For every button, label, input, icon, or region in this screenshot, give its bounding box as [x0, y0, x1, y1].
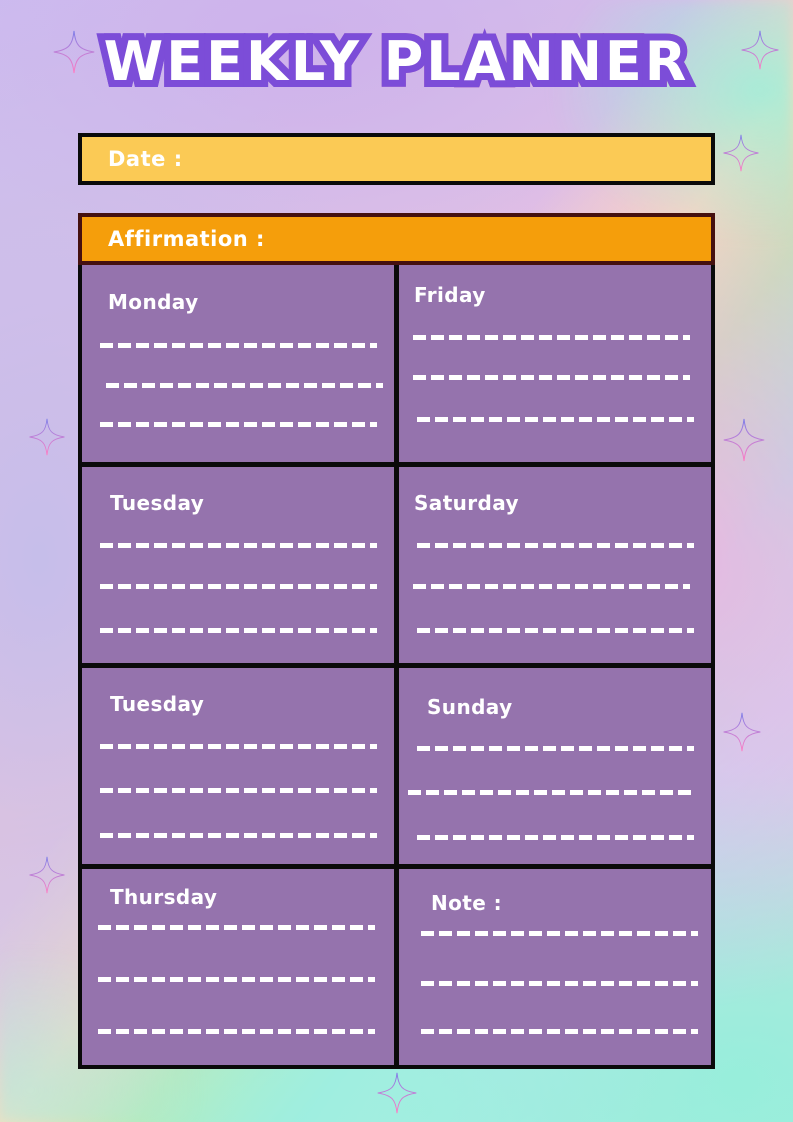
writing-line[interactable]: [100, 788, 377, 793]
planner-cell-monday[interactable]: Monday: [82, 265, 394, 462]
writing-line[interactable]: [417, 835, 694, 840]
planner-cell-tuesday[interactable]: Tuesday: [82, 467, 394, 663]
planner-cell-sunday[interactable]: Sunday: [399, 668, 711, 864]
page-title: WEEKLY PLANNER: [0, 34, 793, 91]
cell-label: Note :: [431, 891, 502, 915]
planner-cell-saturday[interactable]: Saturday: [399, 467, 711, 663]
affirmation-label: Affirmation :: [108, 227, 265, 251]
writing-line[interactable]: [100, 422, 377, 427]
cell-label: Thursday: [110, 885, 217, 909]
writing-line[interactable]: [98, 977, 375, 982]
writing-line[interactable]: [417, 417, 694, 422]
writing-line[interactable]: [421, 931, 698, 936]
writing-line[interactable]: [100, 584, 377, 589]
writing-line[interactable]: [417, 628, 694, 633]
planner-cell-note[interactable]: Note :: [399, 869, 711, 1065]
planner-cell-tuesday-2[interactable]: Tuesday: [82, 668, 394, 864]
writing-line[interactable]: [417, 543, 694, 548]
writing-line[interactable]: [413, 335, 690, 340]
writing-line[interactable]: [417, 746, 694, 751]
planner-sheet: Date : Affirmation : Monday Friday Tuesd…: [78, 133, 715, 1069]
date-label: Date :: [108, 147, 183, 171]
planner-cell-thursday[interactable]: Thursday: [82, 869, 394, 1065]
writing-line[interactable]: [421, 981, 698, 986]
writing-line[interactable]: [100, 744, 377, 749]
writing-line[interactable]: [100, 833, 377, 838]
cell-label: Tuesday: [110, 491, 204, 515]
cell-label: Friday: [414, 283, 486, 307]
writing-line[interactable]: [98, 1029, 375, 1034]
writing-line[interactable]: [421, 1029, 698, 1034]
page-title-text: WEEKLY PLANNER: [104, 30, 690, 93]
writing-line[interactable]: [100, 543, 377, 548]
date-field[interactable]: Date :: [78, 133, 715, 185]
writing-line[interactable]: [100, 343, 377, 348]
cell-label: Monday: [108, 290, 199, 314]
affirmation-field[interactable]: Affirmation :: [78, 213, 715, 265]
writing-line[interactable]: [100, 628, 377, 633]
writing-line[interactable]: [413, 584, 690, 589]
writing-line[interactable]: [106, 383, 383, 388]
writing-line[interactable]: [98, 925, 375, 930]
writing-line[interactable]: [413, 375, 690, 380]
cell-label: Saturday: [414, 491, 519, 515]
planner-grid: Monday Friday Tuesday Saturday Tuesday: [78, 265, 715, 1069]
writing-line[interactable]: [408, 790, 691, 795]
cell-label: Sunday: [427, 695, 513, 719]
cell-label: Tuesday: [110, 692, 204, 716]
planner-cell-friday[interactable]: Friday: [399, 265, 711, 462]
